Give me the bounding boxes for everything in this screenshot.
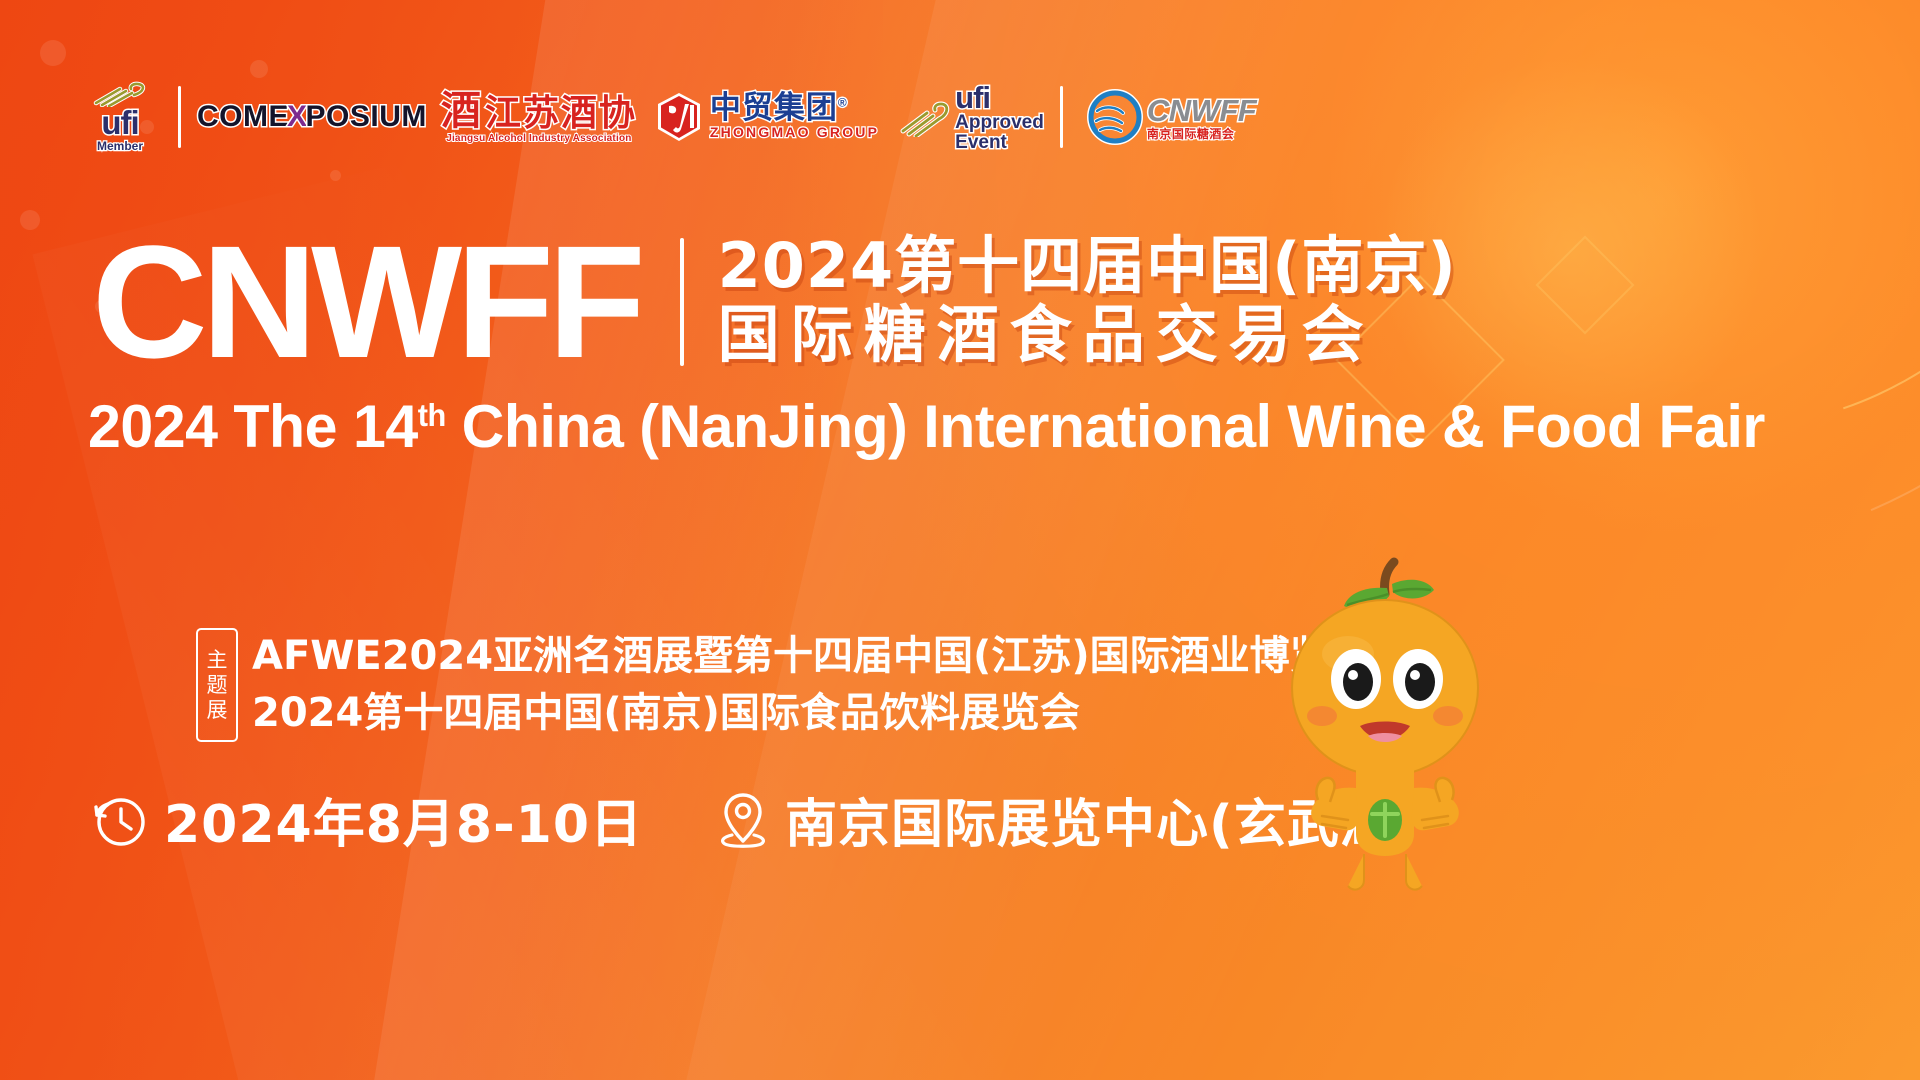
main-title-row: CNWFF 2024第十四届中国(南京) 国际糖酒食品交易会 [92,228,1457,375]
mascot-cheek-left [1307,706,1337,726]
banner-stage: ufi Member COME X POSIUM 酒 江苏酒协 Jiangsu … [0,0,1920,1080]
globe-wave-icon [1087,89,1143,145]
zhongmao-name-cn: 中贸集团 [710,90,838,125]
title-divider [680,238,684,366]
page-title-acronym: CNWFF [92,228,640,375]
page-title-en-suffix: China (NanJing) International Wine & Foo… [446,393,1765,460]
theme-exhibitions-block: 主 题 展 AFWE2024亚洲名酒展暨第十四届中国(江苏)国际酒业博览会 20… [196,628,1370,742]
logo-comexposium[interactable]: COME X POSIUM [197,100,427,134]
partner-logo-bar: ufi Member COME X POSIUM 酒 江苏酒协 Jiangsu … [78,78,1256,156]
page-title-en-ordinal: th [418,398,446,433]
zhongmao-name-en: ZHONGMAO GROUP [710,123,879,141]
event-date-item: 2024年8月8-10日 [92,782,643,857]
page-title-english: 2024 The 14th China (NanJing) Internatio… [88,392,1765,461]
page-title-cn-line2: 国际糖酒食品交易会 [718,300,1457,369]
logo-ufi-member[interactable]: ufi Member [78,81,162,152]
ufi-swoosh-icon [899,97,951,137]
logo-divider-2 [1060,86,1063,148]
zhongmao-emblem-icon [655,91,703,143]
comexposium-part1: COME [197,100,289,134]
ufi-approved-line1: Approved [955,113,1044,132]
decorative-dot [330,170,341,181]
theme-badge-char-1: 主 [207,648,228,673]
logo-ufi-approved-event[interactable]: ufi Approved Event [899,82,1044,152]
decorative-dot [250,60,268,78]
ufi-approved-line2: Event [955,133,1044,152]
clock-icon [92,792,148,848]
cnwff-logo-text: CNWFF 南京国际糖酒会 [1147,95,1256,140]
mascot-arm-left [1311,778,1358,830]
ufi-member-word: ufi [101,108,138,137]
page-title-cn-line1: 2024第十四届中国(南京) [718,233,1457,300]
theme-exhibition-line-1: AFWE2024亚洲名酒展暨第十四届中国(江苏)国际酒业博览会 [252,628,1370,685]
event-info-row: 2024年8月8-10日 南京国际展览中心(玄武湖) [92,782,1418,857]
theme-exhibition-line-2: 2024第十四届中国(南京)国际食品饮料展览会 [252,685,1370,742]
theme-badge-char-3: 展 [207,698,228,723]
logo-jiangsu-association[interactable]: 酒 江苏酒协 Jiangsu Alcohol Industry Associat… [441,91,637,144]
theme-exhibition-lines: AFWE2024亚洲名酒展暨第十四届中国(江苏)国际酒业博览会 2024第十四届… [252,628,1370,742]
logo-zhongmao-group[interactable]: 中贸集团® ZHONGMAO GROUP [655,91,879,143]
location-pin-icon [717,791,769,849]
zhongmao-registered-mark: ® [838,96,848,110]
page-title-en-prefix: 2024 The 14 [88,393,418,460]
jiangsu-name-en: Jiangsu Alcohol Industry Association [446,133,631,144]
theme-badge-char-2: 题 [207,673,228,698]
zhongmao-text: 中贸集团® ZHONGMAO GROUP [710,92,879,141]
comexposium-x: X [287,100,308,134]
mascot-cheek-right [1433,706,1463,726]
decorative-dot [40,40,66,66]
logo-cnwff[interactable]: CNWFF 南京国际糖酒会 [1087,89,1256,145]
ufi-member-label: Member [97,139,143,153]
jiangsu-name-cn: 江苏酒协 [485,95,637,131]
comexposium-part2: POSIUM [306,100,427,134]
cnwff-logo-subtitle: 南京国际糖酒会 [1147,128,1256,140]
logo-divider-1 [178,86,181,148]
ufi-approved-text: ufi Approved Event [955,82,1044,152]
mascot-arm-right [1412,778,1459,830]
event-date-text: 2024年8月8-10日 [164,782,643,857]
ufi-approved-word: ufi [955,82,1044,114]
decorative-dot [20,210,40,230]
jiangsu-seal-glyph: 酒 [441,91,481,131]
theme-exhibition-badge: 主 题 展 [196,628,238,742]
cnwff-logo-word: CNWFF [1147,95,1256,126]
zhongmao-name-cn-wrap: 中贸集团® [710,92,879,123]
jiangsu-logo-row: 酒 江苏酒协 [441,91,637,131]
orange-fruit-mascot [1252,548,1522,898]
page-title-chinese: 2024第十四届中国(南京) 国际糖酒食品交易会 [718,233,1457,369]
